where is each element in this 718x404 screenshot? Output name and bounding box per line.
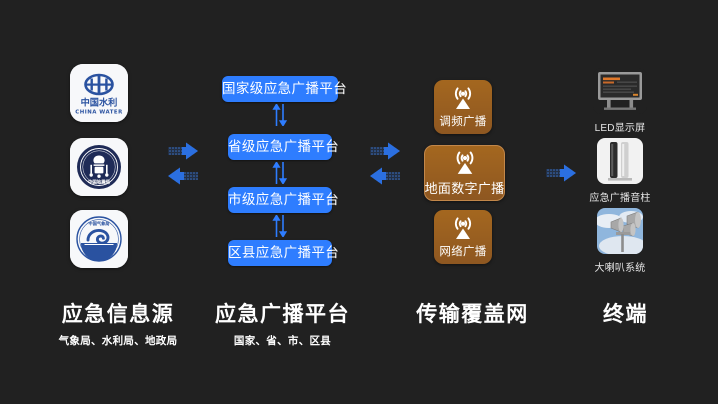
svg-text:中国水利: 中国水利 (81, 97, 118, 109)
terminal-label-loudspeaker-system: 大喇叭系统 (583, 259, 657, 274)
flow-arrow-transmission-to-terminals (544, 163, 578, 183)
source-logo-china-water: 中国水利 CHINA WATER (70, 64, 128, 122)
transmission-label-terrestrial-digital: 地面数字广播 (425, 178, 505, 197)
transmission-label-network: 网络广播 (439, 243, 486, 259)
section-title: 传输覆盖网 (390, 298, 555, 328)
led-screen-thumb (593, 68, 647, 114)
transmission-box-terrestrial-digital[interactable]: 地面数字广播 (424, 145, 505, 201)
terminal-led-display[interactable]: LED显示屏 (583, 68, 657, 134)
section-title: 应急信息源 (28, 298, 208, 328)
section-subtitle: 国家、省、市、区县 (190, 333, 375, 348)
transmission-box-network[interactable]: 网络广播 (434, 210, 492, 264)
terminal-label-led-display: LED显示屏 (583, 119, 657, 134)
transmission-label-fm: 调频广播 (439, 113, 486, 129)
speaker-column-thumb (597, 138, 643, 184)
section-label-transmission-coverage-network: 传输覆盖网 (390, 298, 555, 333)
section-title: 终端 (563, 298, 688, 328)
section-subtitle: 气象局、水利局、地政局 (28, 333, 208, 348)
flow-arrow-sources-to-platforms (166, 141, 200, 161)
broadcast-tower-icon (449, 149, 481, 176)
flow-arrow-platforms-to-sources (166, 166, 200, 186)
platform-box-national[interactable]: 国家级应急广播平台 (222, 76, 338, 102)
platform-box-municipal[interactable]: 市级应急广播平台 (228, 187, 332, 213)
terminal-speaker-column[interactable]: 应急广播音柱 (583, 138, 657, 204)
section-label-terminals: 终端 (563, 298, 688, 333)
platform-box-provincial[interactable]: 省级应急广播平台 (228, 134, 332, 160)
broadcast-tower-icon (448, 85, 478, 111)
loudspeaker-thumb (597, 208, 643, 254)
platform-connector-national-provincial (272, 104, 288, 126)
transmission-box-fm[interactable]: 调频广播 (434, 80, 492, 134)
flow-arrow-platforms-to-transmission (368, 141, 402, 161)
svg-text:CHINA WATER: CHINA WATER (75, 110, 123, 116)
svg-text:中国气象局: 中国气象局 (89, 220, 110, 227)
source-logo-china-meteorological-administration: 中国气象局 (70, 210, 128, 268)
section-title: 应急广播平台 (190, 298, 375, 328)
source-logo-china-earthquake-administration: 中国地震局 (70, 138, 128, 196)
broadcast-tower-icon (448, 215, 478, 241)
section-label-emergency-broadcast-platform: 应急广播平台 国家、省、市、区县 (190, 298, 375, 348)
svg-text:中国地震局: 中国地震局 (88, 178, 111, 185)
platform-box-district[interactable]: 区县应急广播平台 (228, 240, 332, 266)
platform-connector-provincial-municipal (272, 162, 288, 184)
terminal-loudspeaker-system[interactable]: 大喇叭系统 (583, 208, 657, 274)
platform-connector-municipal-district (272, 215, 288, 237)
section-label-emergency-information-sources: 应急信息源 气象局、水利局、地政局 (28, 298, 208, 348)
terminal-label-speaker-column: 应急广播音柱 (583, 189, 657, 204)
diagram-canvas: 中国水利 CHINA WATER 中国地震局 (0, 0, 718, 404)
flow-arrow-transmission-to-platforms (368, 166, 402, 186)
